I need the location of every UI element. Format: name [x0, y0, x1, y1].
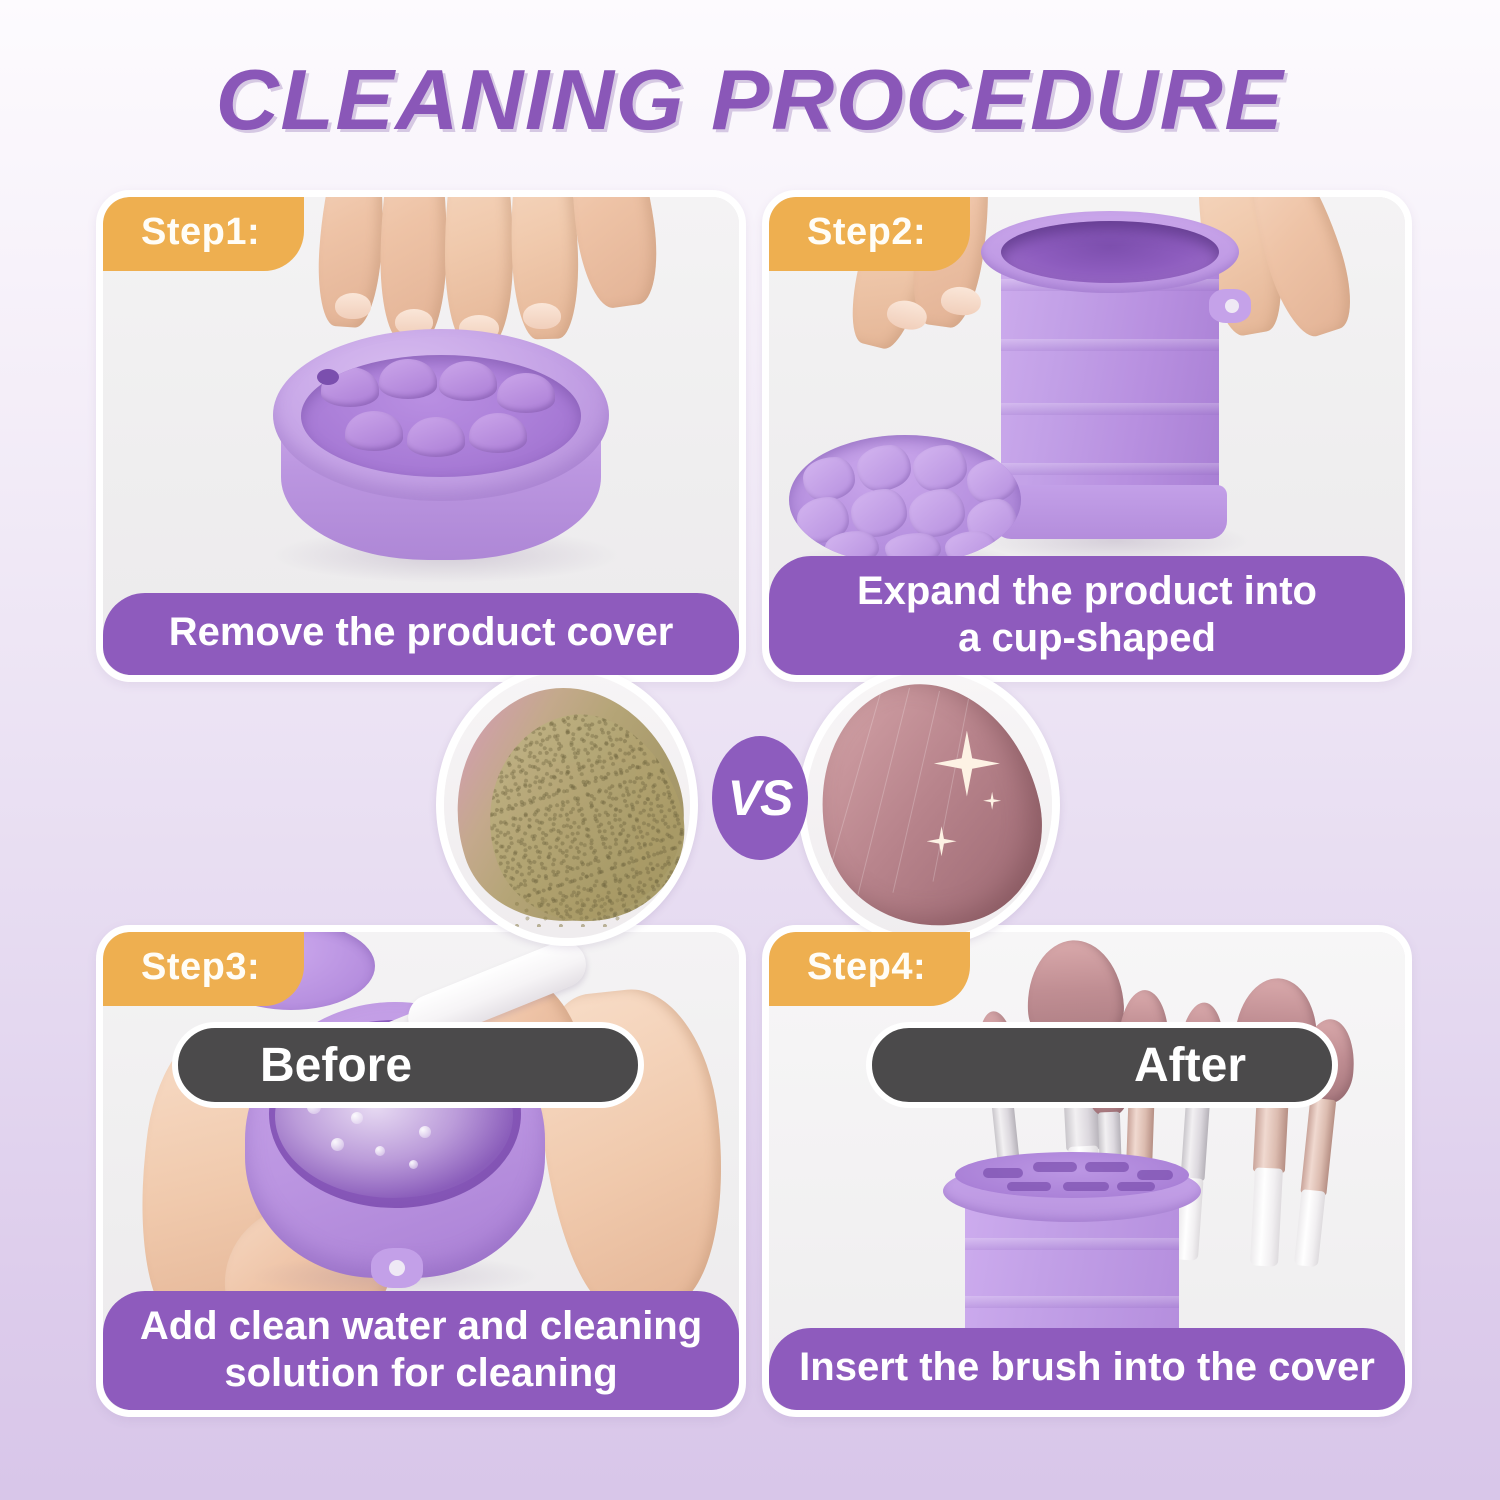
infographic-page: CLEANING PROCEDURE	[0, 0, 1500, 1500]
step-caption-3: Add clean water and cleaning solution fo…	[103, 1291, 739, 1410]
after-label-pill: After	[866, 1022, 1338, 1108]
step-caption-1: Remove the product cover	[103, 593, 739, 675]
step-caption-4: Insert the brush into the cover	[769, 1328, 1405, 1410]
after-photo	[798, 664, 1060, 946]
step-caption-3-line-2: solution for cleaning	[127, 1350, 715, 1396]
tab-hole	[389, 1260, 405, 1276]
page-title: CLEANING PROCEDURE	[0, 52, 1500, 150]
before-label: Before	[260, 1038, 412, 1093]
fingernail	[335, 293, 371, 319]
holder-lid-with-slots	[955, 1152, 1189, 1198]
step-card-1: Step1: Remove the product cover	[96, 190, 746, 682]
petal-pattern-lid	[789, 435, 1021, 565]
loose-powder-specks	[513, 895, 626, 927]
cup-interior	[1001, 221, 1219, 283]
after-label: After	[1134, 1038, 1246, 1093]
step-caption-3-line-1: Add clean water and cleaning	[127, 1303, 715, 1349]
cup-foot	[993, 485, 1227, 539]
step-caption-2: Expand the product into a cup-shaped	[769, 556, 1405, 675]
step-caption-2-line-1: Expand the product into	[793, 568, 1381, 614]
before-label-pill: Before	[172, 1022, 644, 1108]
vs-badge: VS	[712, 736, 808, 860]
lid-vent-hole	[317, 369, 339, 385]
before-photo	[436, 664, 698, 946]
tab-hole	[1225, 299, 1239, 313]
step-badge-3: Step3:	[103, 932, 304, 1006]
step-card-4: Step4: Insert the brush into the cover	[762, 925, 1412, 1417]
petal-pattern-lid	[301, 355, 581, 477]
step-card-3: Step3: Add clean water and cleaning solu…	[96, 925, 746, 1417]
step-caption-2-line-2: a cup-shaped	[793, 615, 1381, 661]
vs-label: VS	[728, 769, 793, 827]
step-badge-1: Step1:	[103, 197, 304, 271]
step-card-2: Step2: Expand the product into a cup-sha…	[762, 190, 1412, 682]
step-badge-2: Step2:	[769, 197, 970, 271]
fingernail	[523, 303, 561, 329]
step-badge-4: Step4:	[769, 932, 970, 1006]
